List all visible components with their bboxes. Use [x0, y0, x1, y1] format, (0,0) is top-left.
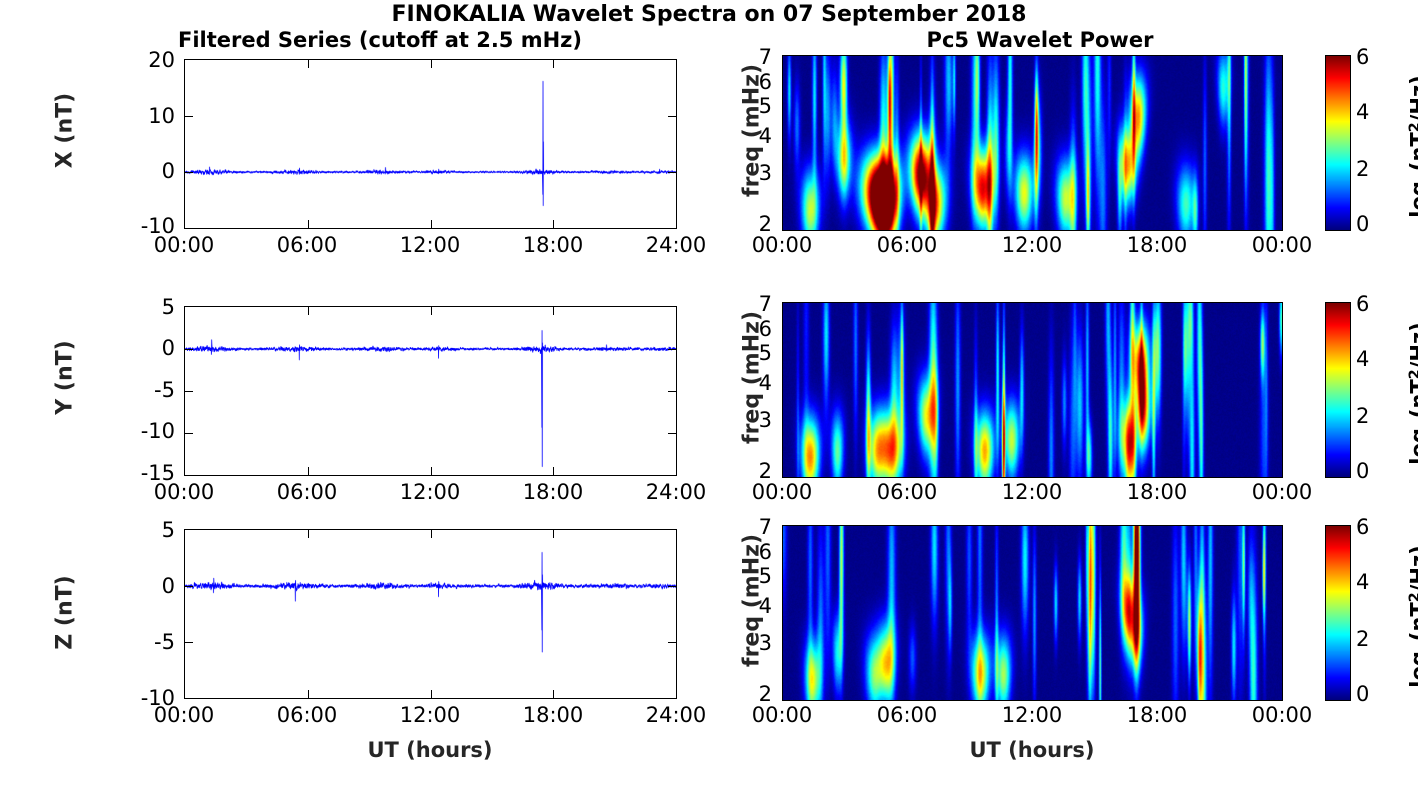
xtick-spec-z-4: 00:00 — [1242, 703, 1322, 727]
ytick-spec-y-4: 4 — [740, 371, 772, 395]
ytick-spec-x-6: 6 — [740, 70, 772, 94]
cbtick-y-0: 0 — [1356, 459, 1386, 483]
cb-unit-tail: /Hz) — [1407, 75, 1418, 122]
xtick-y-3: 18:00 — [513, 480, 593, 504]
xtick-spec-x-4: 00:00 — [1242, 233, 1322, 257]
axis-tick — [431, 467, 432, 475]
cbtick-z-0: 0 — [1356, 682, 1386, 706]
cb-unit-open: (nT — [1407, 379, 1418, 418]
cb-unit-sup: 2 — [1407, 369, 1418, 379]
axis-tick — [553, 220, 554, 228]
xtick-z-4: 24:00 — [636, 703, 716, 727]
axis-tick — [668, 391, 676, 392]
xtick-y-1: 06:00 — [267, 480, 347, 504]
xtick-x-2: 12:00 — [390, 233, 470, 257]
xtick-x-0: 00:00 — [144, 233, 224, 257]
axis-tick — [553, 690, 554, 698]
right-column-title: Pc5 Wavelet Power — [790, 28, 1290, 52]
ytick-y-2: -5 — [110, 378, 175, 402]
ytick-spec-z-6: 6 — [740, 540, 772, 564]
xtick-z-1: 06:00 — [267, 703, 347, 727]
ytick-spec-z-4: 4 — [740, 594, 772, 618]
cbtick-z-6: 6 — [1356, 515, 1386, 539]
axis-tick — [431, 220, 432, 228]
cbtick-x-0: 0 — [1356, 212, 1386, 236]
ytick-spec-z-7: 7 — [740, 515, 772, 539]
xtick-z-2: 12:00 — [390, 703, 470, 727]
xtick-spec-y-2: 12:00 — [992, 480, 1072, 504]
ytick-spec-x-5: 5 — [740, 94, 772, 118]
ytick-x-2: 0 — [110, 159, 175, 183]
axis-tick — [185, 586, 193, 587]
xtick-y-4: 24:00 — [636, 480, 716, 504]
axis-tick — [185, 172, 193, 173]
axis-tick — [308, 60, 309, 68]
axis-tick — [431, 307, 432, 315]
ytick-spec-x-7: 7 — [740, 45, 772, 69]
axis-tick — [185, 642, 193, 643]
xtick-spec-y-3: 18:00 — [1117, 480, 1197, 504]
timeseries-plot-z[interactable] — [184, 529, 677, 699]
axis-tick — [308, 220, 309, 228]
axis-tick — [185, 433, 193, 434]
cbtick-x-4: 4 — [1356, 100, 1386, 124]
axis-tick — [308, 307, 309, 315]
figure-title: FINOKALIA Wavelet Spectra on 07 Septembe… — [0, 2, 1418, 27]
cb-unit-open: (nT — [1407, 132, 1418, 171]
axis-tick — [308, 690, 309, 698]
figure-canvas: FINOKALIA Wavelet Spectra on 07 Septembe… — [0, 0, 1418, 788]
axis-tick — [308, 467, 309, 475]
cbtick-x-2: 2 — [1356, 157, 1386, 181]
ytick-spec-z-5: 5 — [740, 564, 772, 588]
cb-unit-sup: 2 — [1407, 122, 1418, 132]
cbtick-y-6: 6 — [1356, 292, 1386, 316]
wavelet-spectrogram-z[interactable] — [782, 525, 1283, 701]
x-axis-label-right: UT (hours) — [852, 738, 1212, 762]
axis-tick — [185, 391, 193, 392]
axis-tick — [553, 530, 554, 538]
axis-tick — [553, 307, 554, 315]
axis-tick — [668, 172, 676, 173]
xtick-spec-z-1: 06:00 — [867, 703, 947, 727]
xtick-y-0: 00:00 — [144, 480, 224, 504]
xtick-x-4: 24:00 — [636, 233, 716, 257]
colorbar-label-z: log2(nT2/Hz) — [1407, 516, 1418, 716]
axis-tick — [668, 116, 676, 117]
ytick-spec-y-5: 5 — [740, 341, 772, 365]
colorbar-label-y: log2(nT2/Hz) — [1407, 293, 1418, 493]
cb-unit-open: (nT — [1407, 602, 1418, 641]
ytick-z-0: 5 — [110, 518, 175, 542]
ytick-z-2: -5 — [110, 630, 175, 654]
xtick-spec-x-2: 12:00 — [992, 233, 1072, 257]
axis-tick — [431, 530, 432, 538]
ytick-spec-y-7: 7 — [740, 292, 772, 316]
ytick-z-1: 0 — [110, 574, 175, 598]
colorbar-x[interactable] — [1325, 55, 1351, 231]
cb-log-text: log — [1407, 651, 1418, 688]
cbtick-y-4: 4 — [1356, 347, 1386, 371]
y-axis-label-x: X (nT) — [53, 61, 78, 201]
y-axis-label-y: Y (nT) — [53, 308, 78, 448]
xtick-spec-z-2: 12:00 — [992, 703, 1072, 727]
x-axis-label-left: UT (hours) — [250, 738, 610, 762]
xtick-spec-x-3: 18:00 — [1117, 233, 1197, 257]
axis-tick — [431, 60, 432, 68]
cbtick-y-2: 2 — [1356, 404, 1386, 428]
xtick-spec-y-1: 06:00 — [867, 480, 947, 504]
xtick-x-3: 18:00 — [513, 233, 593, 257]
y-axis-label-z: Z (nT) — [53, 543, 78, 683]
ytick-x-1: 10 — [110, 104, 175, 128]
ytick-y-3: -10 — [110, 419, 175, 443]
xtick-x-1: 06:00 — [267, 233, 347, 257]
cb-unit-tail: /Hz) — [1407, 545, 1418, 592]
timeseries-plot-y[interactable] — [184, 306, 677, 476]
axis-tick — [308, 530, 309, 538]
ytick-x-0: 20 — [110, 48, 175, 72]
ytick-spec-y-6: 6 — [740, 317, 772, 341]
wavelet-spectrogram-y[interactable] — [782, 302, 1283, 478]
cb-unit-sup: 2 — [1407, 592, 1418, 602]
ytick-y-0: 5 — [110, 295, 175, 319]
axis-tick — [431, 690, 432, 698]
xtick-spec-z-0: 00:00 — [742, 703, 822, 727]
cbtick-x-6: 6 — [1356, 45, 1386, 69]
cb-unit-tail: /Hz) — [1407, 322, 1418, 369]
xtick-spec-z-3: 18:00 — [1117, 703, 1197, 727]
axis-tick — [668, 586, 676, 587]
xtick-z-3: 18:00 — [513, 703, 593, 727]
ytick-spec-y-3: 3 — [740, 408, 772, 432]
axis-tick — [668, 642, 676, 643]
axis-tick — [553, 60, 554, 68]
left-column-title: Filtered Series (cutoff at 2.5 mHz) — [120, 28, 640, 52]
colorbar-z[interactable] — [1325, 525, 1351, 701]
xtick-spec-y-4: 00:00 — [1242, 480, 1322, 504]
axis-tick — [668, 349, 676, 350]
colorbar-y[interactable] — [1325, 302, 1351, 478]
timeseries-plot-x[interactable] — [184, 59, 677, 229]
ytick-y-1: 0 — [110, 336, 175, 360]
xtick-spec-x-0: 00:00 — [742, 233, 822, 257]
axis-tick — [553, 467, 554, 475]
xtick-spec-x-1: 06:00 — [867, 233, 947, 257]
ytick-spec-z-3: 3 — [740, 631, 772, 655]
axis-tick — [668, 433, 676, 434]
axis-tick — [185, 349, 193, 350]
ytick-spec-x-4: 4 — [740, 124, 772, 148]
cbtick-z-2: 2 — [1356, 627, 1386, 651]
colorbar-label-x: log2(nT2/Hz) — [1407, 46, 1418, 246]
cb-log-text: log — [1407, 181, 1418, 218]
cbtick-z-4: 4 — [1356, 570, 1386, 594]
ytick-spec-x-3: 3 — [740, 161, 772, 185]
xtick-y-2: 12:00 — [390, 480, 470, 504]
cb-log-text: log — [1407, 428, 1418, 465]
xtick-z-0: 00:00 — [144, 703, 224, 727]
wavelet-spectrogram-x[interactable] — [782, 55, 1283, 231]
xtick-spec-y-0: 00:00 — [742, 480, 822, 504]
axis-tick — [185, 116, 193, 117]
